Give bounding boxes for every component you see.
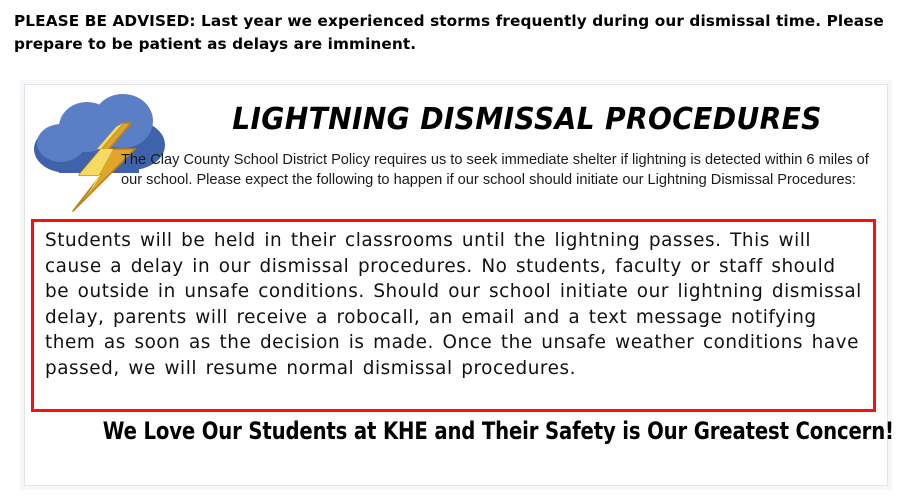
procedures-highlight-box: Students will be held in their classroom… xyxy=(31,219,876,412)
procedures-text: Students will be held in their classroom… xyxy=(45,228,863,382)
advisory-notice: PLEASE BE ADVISED: Last year we experien… xyxy=(14,10,886,56)
flyer-card: LIGHTNING DISMISSAL PROCEDURES The Clay … xyxy=(24,84,888,486)
flyer-title: LIGHTNING DISMISSAL PROCEDURES xyxy=(198,103,856,137)
flyer-footer-slogan: We Love Our Students at KHE and Their Sa… xyxy=(103,416,811,446)
flyer-header: LIGHTNING DISMISSAL PROCEDURES The Clay … xyxy=(25,85,887,213)
storm-cloud-lightning-icon xyxy=(31,87,171,213)
flyer-intro-paragraph: The Clay County School District Policy r… xyxy=(121,151,881,190)
